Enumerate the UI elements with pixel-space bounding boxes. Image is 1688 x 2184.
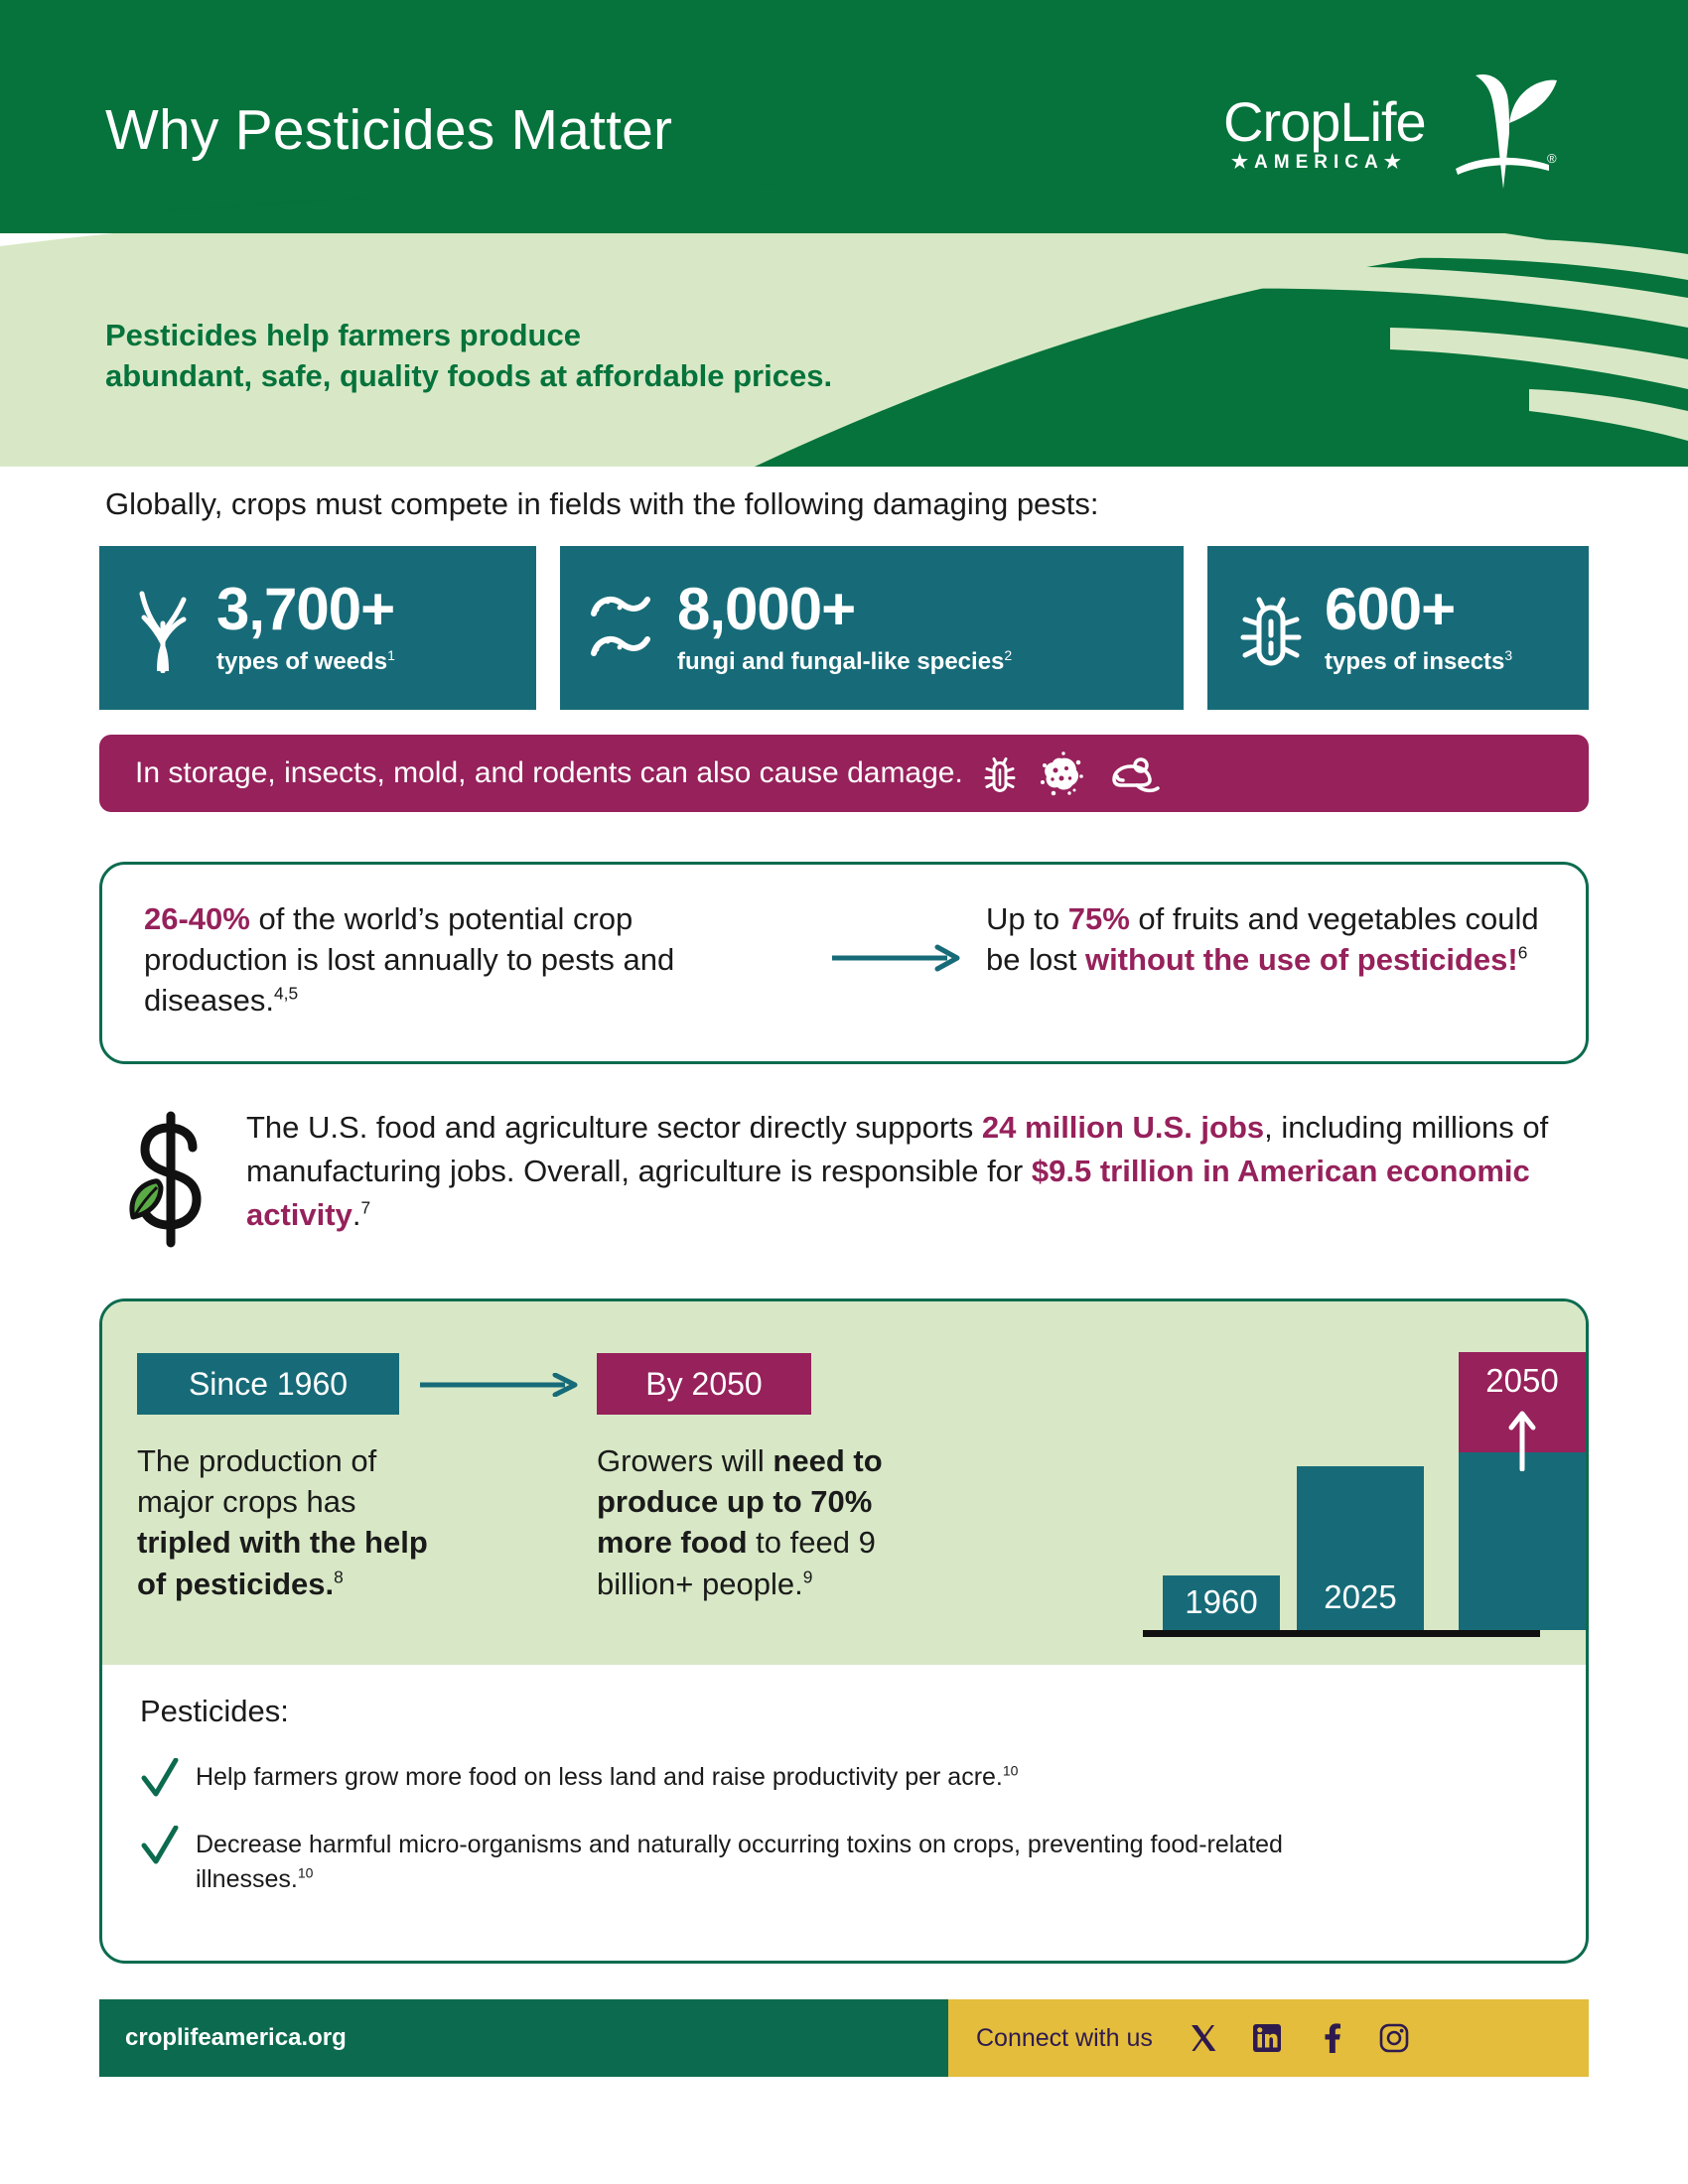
up-arrow-icon <box>1507 1410 1537 1471</box>
beetle-icon <box>983 751 1017 795</box>
stat-number: 3,700+ <box>216 580 395 639</box>
crop-loss-percent: 26-40% <box>144 901 250 936</box>
linkedin-icon[interactable] <box>1252 2023 1282 2053</box>
bar-label: 1960 <box>1163 1583 1280 1621</box>
crop-loss-right-text: Up to 75% of fruits and vegetables could… <box>986 898 1562 980</box>
since-1960-badge: Since 1960 <box>137 1353 399 1415</box>
website-url[interactable]: croplifeamerica.org <box>125 2024 347 2052</box>
stat-card-insects: 600+ types of insects3 <box>1207 546 1589 710</box>
bar-label: 2025 <box>1297 1578 1424 1616</box>
storage-damage-bar: In storage, insects, mold, and rodents c… <box>99 735 1589 812</box>
page-footer: croplifeamerica.org Connect with us <box>99 1999 1589 2077</box>
storage-damage-text: In storage, insects, mold, and rodents c… <box>135 756 963 790</box>
bar-1960: 1960 <box>1163 1575 1280 1630</box>
footnote-ref: 3 <box>1504 647 1512 663</box>
checklist-heading: Pesticides: <box>140 1694 289 1729</box>
banner-subtitle-line-1: Pesticides help farmers produce <box>105 316 999 356</box>
page-title: Why Pesticides Matter <box>105 97 672 163</box>
footnote-ref: 10 <box>298 1864 314 1880</box>
stat-card-fungi: 8,000+ fungi and fungal-like species2 <box>560 546 1184 710</box>
stat-label: types of weeds1 <box>216 647 395 676</box>
footer-green-block: croplifeamerica.org <box>99 1999 948 2077</box>
arrow-right-icon <box>420 1373 579 1397</box>
production-growth-bar-chart: 1960 2025 2050 <box>1143 1331 1540 1659</box>
rodent-icon <box>1106 752 1162 794</box>
footnote-ref: 6 <box>1518 943 1528 963</box>
storage-icon-group <box>983 751 1162 796</box>
banner-subtitle: Pesticides help farmers produce abundant… <box>105 316 999 397</box>
footnote-ref: 2 <box>1004 647 1012 663</box>
without-pesticides-emphasis: without the use of pesticides! <box>1085 942 1518 977</box>
intro-text: Globally, crops must compete in fields w… <box>105 486 1099 522</box>
banner-subtitle-line-2: abundant, safe, quality foods at afforda… <box>105 356 999 397</box>
checklist-item-text: Help farmers grow more food on less land… <box>196 1760 1018 1795</box>
x-twitter-icon[interactable] <box>1189 2023 1218 2053</box>
pest-stats-row: 3,700+ types of weeds1 <box>99 546 1589 710</box>
check-icon <box>140 1826 180 1869</box>
logo-registered-mark: ® <box>1547 151 1557 166</box>
stat-label: types of insects3 <box>1325 647 1512 676</box>
arrow-right-icon <box>832 944 961 972</box>
beetle-icon <box>1225 586 1317 671</box>
stat-number: 8,000+ <box>677 580 1012 639</box>
footnote-ref: 4,5 <box>274 984 298 1004</box>
facebook-icon[interactable] <box>1316 2022 1345 2054</box>
fruit-loss-percent: 75% <box>1068 901 1130 936</box>
stat-card-weeds: 3,700+ types of weeds1 <box>99 546 536 710</box>
crop-loss-left-text: 26-40% of the world’s potential crop pro… <box>144 898 779 1022</box>
growth-column-1-text: The production of major crops has triple… <box>137 1440 455 1604</box>
fungi-worms-icon <box>578 584 669 673</box>
connect-with-us-label: Connect with us <box>976 2024 1153 2053</box>
stat-number: 600+ <box>1325 580 1512 639</box>
bar-2050-growth-cap: 2050 <box>1459 1352 1586 1452</box>
weed-grass-icon <box>117 584 209 673</box>
checklist-item-text: Decrease harmful micro-organisms and nat… <box>196 1828 1308 1896</box>
footnote-ref: 8 <box>334 1567 344 1586</box>
check-icon <box>140 1758 180 1802</box>
economy-text: The U.S. food and agriculture sector dir… <box>246 1106 1597 1237</box>
footer-gold-block: Connect with us <box>948 1999 1589 2077</box>
dollar-leaf-icon <box>117 1110 224 1249</box>
croplife-america-logo: CropLife ★AMERICA★ ® <box>1223 68 1561 197</box>
bar-label: 2050 <box>1459 1362 1586 1400</box>
stat-label: fungi and fungal-like species2 <box>677 647 1012 676</box>
logo-wordmark: CropLife <box>1223 89 1426 154</box>
by-2050-badge: By 2050 <box>597 1353 811 1415</box>
instagram-icon[interactable] <box>1379 2023 1409 2053</box>
footnote-ref: 9 <box>803 1567 813 1586</box>
page-header: Why Pesticides Matter CropLife ★AMERICA★… <box>0 0 1688 233</box>
logo-america-text: ★AMERICA★ <box>1231 151 1407 174</box>
footnote-ref: 7 <box>360 1198 370 1218</box>
mold-spore-icon <box>1039 751 1084 796</box>
crop-loss-box: 26-40% of the world’s potential crop pro… <box>99 862 1589 1064</box>
bar-2050: 2050 <box>1459 1352 1586 1630</box>
checklist-item: Decrease harmful micro-organisms and nat… <box>140 1828 1530 1896</box>
social-links <box>1189 2022 1409 2054</box>
footnote-ref: 10 <box>1003 1763 1019 1779</box>
footnote-ref: 1 <box>387 647 395 663</box>
growth-column-2-text: Growers will need to produce up to 70% m… <box>597 1440 905 1604</box>
checklist-item: Help farmers grow more food on less land… <box>140 1760 1530 1802</box>
chart-baseline <box>1143 1630 1540 1637</box>
tripled-emphasis: tripled with the help of pesticides. <box>137 1525 428 1600</box>
bar-2025: 2025 <box>1297 1466 1424 1630</box>
jobs-highlight: 24 million U.S. jobs <box>982 1110 1264 1145</box>
economy-section: The U.S. food and agriculture sector dir… <box>99 1102 1589 1281</box>
growth-panel: Since 1960 By 2050 The production of maj… <box>99 1298 1589 1964</box>
sprout-icon <box>1450 62 1559 191</box>
